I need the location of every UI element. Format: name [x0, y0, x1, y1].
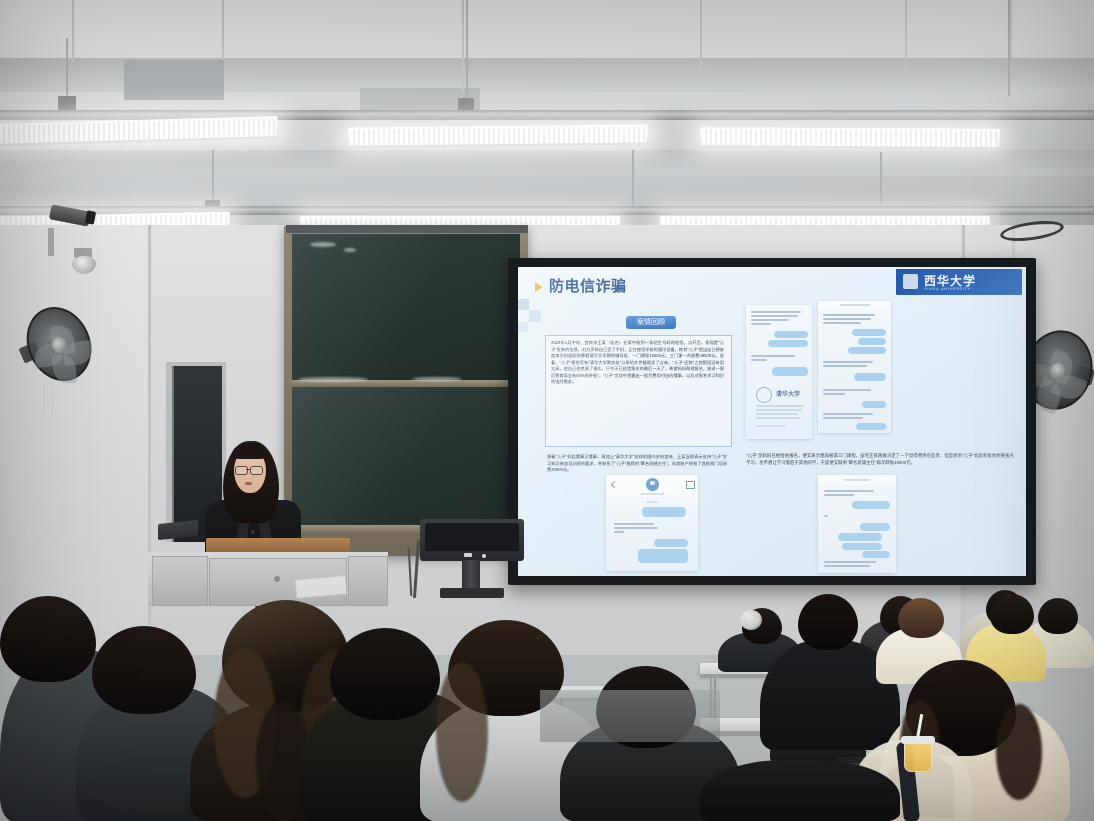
chalk-tray [292, 380, 520, 387]
left-wall-column [0, 225, 150, 655]
light-hanger [66, 38, 68, 100]
presenter-hair-fringe [232, 443, 268, 459]
student-head [92, 626, 196, 714]
case-review-badge: 案情回顾 [626, 316, 676, 329]
student-head [0, 596, 96, 682]
decor-square [529, 310, 541, 322]
light-hanger [466, 0, 468, 100]
chat-avatar [646, 478, 659, 491]
chat-screenshot-bottom-left [606, 475, 698, 571]
student-head [990, 594, 1034, 634]
decor-square [518, 322, 528, 332]
student-back [700, 760, 900, 821]
blackboard-lower [292, 387, 520, 527]
title-bullet-icon [535, 282, 543, 292]
glasses-bridge [246, 469, 250, 470]
light-hanger [1008, 0, 1010, 96]
glasses-icon [250, 466, 263, 475]
camera-bracket [48, 228, 54, 256]
blackboard-top-shade [286, 225, 528, 233]
university-logo-subtitle: XIHUA UNIVERSITY [924, 286, 971, 291]
ceiling-light [348, 124, 648, 147]
blackboard-upper [292, 234, 520, 382]
document-title: 清华大学 [776, 389, 800, 398]
presenter-mouth [245, 482, 252, 485]
chat-screenshot-bottom-right [818, 475, 896, 573]
case-paragraph-2: 想着"儿子"如此懂事又懂事，再加上"清华大学"这样的国内名校加持，王某当即表示支… [547, 454, 727, 474]
university-logo: 西华大学 XIHUA UNIVERSITY [896, 269, 1022, 295]
student-head [330, 628, 440, 720]
case-paragraph-1: 2025年1月中旬，宜宾市王某（化名）在家中收到一条陌生号码的短信，点开后，发现… [551, 340, 724, 386]
ceiling-light [700, 127, 1000, 149]
beverage-cup [904, 742, 932, 772]
glasses-icon [235, 466, 248, 475]
podium-knob [274, 576, 280, 582]
student-head [798, 594, 858, 650]
teaching-console-monitor [420, 519, 524, 561]
light-hanger [632, 150, 634, 206]
projection-screen: 防电信诈骗 西华大学 XIHUA UNIVERSITY 案情回顾 2025年1月… [508, 258, 1036, 585]
student-head [1038, 598, 1078, 634]
decor-square [518, 299, 529, 310]
lecture-hall-photo: 防电信诈骗 西华大学 XIHUA UNIVERSITY 案情回顾 2025年1月… [0, 0, 1094, 821]
case-paragraph-3: "儿子"见妈妈已经给他报名，便又表示想再报第三门课程，虽然王某刚做决定了一下觉得… [746, 453, 1014, 467]
console-base [440, 588, 504, 598]
chat-screenshot-top-right [818, 301, 891, 433]
camera-icon[interactable] [686, 481, 695, 489]
fan-pull-cord [44, 382, 45, 418]
chat-screenshot-top-left: 清华大学 [746, 305, 812, 439]
slide-title: 防电信诈骗 [549, 275, 627, 296]
document-seal-icon [756, 387, 772, 403]
light-hanger [880, 152, 882, 204]
console-stem [462, 560, 480, 590]
slide-surface: 防电信诈骗 西华大学 XIHUA UNIVERSITY 案情回顾 2025年1月… [518, 267, 1026, 576]
floor-step [540, 690, 720, 742]
earmuff-icon [740, 610, 762, 630]
student-head [898, 598, 944, 638]
fan-pull-cord [52, 380, 53, 420]
